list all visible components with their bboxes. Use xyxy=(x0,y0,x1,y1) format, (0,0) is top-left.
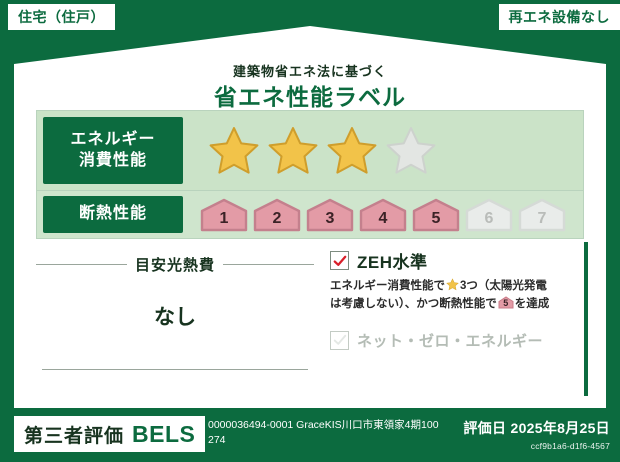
utility-cost-header: 目安光熱費 xyxy=(36,254,314,275)
zeh-desc-stars: 3つ（太陽光発電 xyxy=(460,280,547,292)
utility-cost-value: なし xyxy=(36,301,314,331)
insulation-level-6: 6 xyxy=(464,197,514,233)
row-energy-label: エネルギー 消費性能 xyxy=(43,117,183,184)
label-card: 建築物省エネ法に基づく 省エネ性能ラベル エネルギー 消費性能 xyxy=(14,26,606,408)
insulation-level-number: 1 xyxy=(220,210,229,233)
star-empty-icon xyxy=(384,124,438,178)
zeh-checkbox xyxy=(330,251,349,270)
badge-renewable-equipment: 再エネ設備なし xyxy=(499,4,620,30)
utility-cost-title: 目安光熱費 xyxy=(135,254,215,275)
evaluation-date: 評価日 2025年8月25日 xyxy=(463,418,610,438)
title-subtitle: 建築物省エネ法に基づく xyxy=(14,64,606,80)
cost-bottom-rule xyxy=(42,369,308,370)
cost-rule-left xyxy=(36,264,127,265)
zeh-title: ZEH水準 xyxy=(357,248,428,273)
row-energy-label-line2: 消費性能 xyxy=(79,151,147,172)
row-energy-performance: エネルギー 消費性能 xyxy=(37,111,583,190)
evaluation-date-value: 2025年8月25日 xyxy=(510,420,610,436)
row-insulation-performance: 断熱性能 1234567 xyxy=(37,190,583,238)
panel-divider xyxy=(584,242,588,396)
badge-renewable-equipment-label: 再エネ設備なし xyxy=(509,7,611,27)
evaluation-hash: ccf9b1a6-d1f6-4567 xyxy=(463,441,610,451)
zeh-desc-part2: は考慮しない）、かつ断熱性能で xyxy=(330,298,497,310)
label-card-inner: 建築物省エネ法に基づく 省エネ性能ラベル エネルギー 消費性能 xyxy=(14,26,606,408)
third-party-eval-label: 第三者評価 xyxy=(24,421,124,448)
zeh-description: エネルギー消費性能で3つ（太陽光発電 は考慮しない）、かつ断熱性能で5を達成 xyxy=(330,278,584,314)
title-block: 建築物省エネ法に基づく 省エネ性能ラベル xyxy=(14,64,606,111)
insulation-level-number: 4 xyxy=(379,210,388,233)
insulation-level-3: 3 xyxy=(305,197,355,233)
insulation-level-number: 6 xyxy=(485,210,494,233)
check-icon-disabled xyxy=(333,333,347,347)
row-insulation-label-text: 断熱性能 xyxy=(79,204,147,225)
zeh-panel: ZEH水準 エネルギー消費性能で3つ（太陽光発電 は考慮しない）、かつ断熱性能で… xyxy=(314,248,584,388)
badge-building-type-label: 住宅（住戸） xyxy=(18,7,105,27)
inline-house-icon: 5 xyxy=(498,296,514,309)
insulation-level-scale: 1234567 xyxy=(199,197,567,233)
star-rating xyxy=(207,124,438,178)
inline-star-icon xyxy=(446,278,459,291)
evaluation-date-block: 評価日 2025年8月25日 ccf9b1a6-d1f6-4567 xyxy=(463,418,610,451)
net-zero-energy-row: ネット・ゼロ・エネルギー xyxy=(330,330,584,351)
bels-wordmark: BELS xyxy=(132,421,195,448)
net-zero-energy-title: ネット・ゼロ・エネルギー xyxy=(357,330,543,351)
insulation-level-2: 2 xyxy=(252,197,302,233)
zeh-row: ZEH水準 xyxy=(330,248,584,273)
star-filled-icon xyxy=(266,124,320,178)
insulation-level-5: 5 xyxy=(411,197,461,233)
row-energy-label-line1: エネルギー xyxy=(70,130,155,151)
insulation-level-number: 7 xyxy=(538,210,547,233)
star-filled-icon xyxy=(325,124,379,178)
star-filled-icon xyxy=(207,124,261,178)
zeh-desc-part1: エネルギー消費性能で xyxy=(330,280,445,292)
insulation-level-number: 2 xyxy=(273,210,282,233)
net-zero-energy-checkbox xyxy=(330,331,349,350)
row-insulation-label: 断熱性能 xyxy=(43,196,183,233)
bels-logo-box: 第三者評価 BELS xyxy=(14,416,205,452)
page-title: 省エネ性能ラベル xyxy=(14,84,606,112)
insulation-level-4: 4 xyxy=(358,197,408,233)
cost-rule-right xyxy=(223,264,314,265)
row-insulation-content: 1234567 xyxy=(189,191,583,238)
zeh-desc-part3: を達成 xyxy=(515,298,550,310)
bottom-section: 目安光熱費 なし ZEH水準 xyxy=(36,248,584,388)
insulation-level-1: 1 xyxy=(199,197,249,233)
inline-house-level: 5 xyxy=(498,296,514,309)
check-icon xyxy=(333,254,347,268)
performance-rows: エネルギー 消費性能 断熱性能 1234567 xyxy=(36,110,584,239)
row-energy-content xyxy=(189,111,583,190)
footer: 第三者評価 BELS 0000036494-0001 GraceKIS川口市東領… xyxy=(0,408,620,462)
utility-cost-panel: 目安光熱費 なし xyxy=(36,248,314,388)
badge-building-type: 住宅（住戸） xyxy=(8,4,115,30)
insulation-level-number: 3 xyxy=(326,210,335,233)
insulation-level-number: 5 xyxy=(432,210,441,233)
bels-energy-label: 住宅（住戸） 再エネ設備なし 建築物省エネ法に基づく 省エネ性能ラベル エネルギ… xyxy=(0,0,620,462)
insulation-level-7: 7 xyxy=(517,197,567,233)
evaluation-date-label: 評価日 xyxy=(463,420,506,436)
bels-registration-id: 0000036494-0001 GraceKIS川口市東領家4期100274 xyxy=(208,418,440,448)
